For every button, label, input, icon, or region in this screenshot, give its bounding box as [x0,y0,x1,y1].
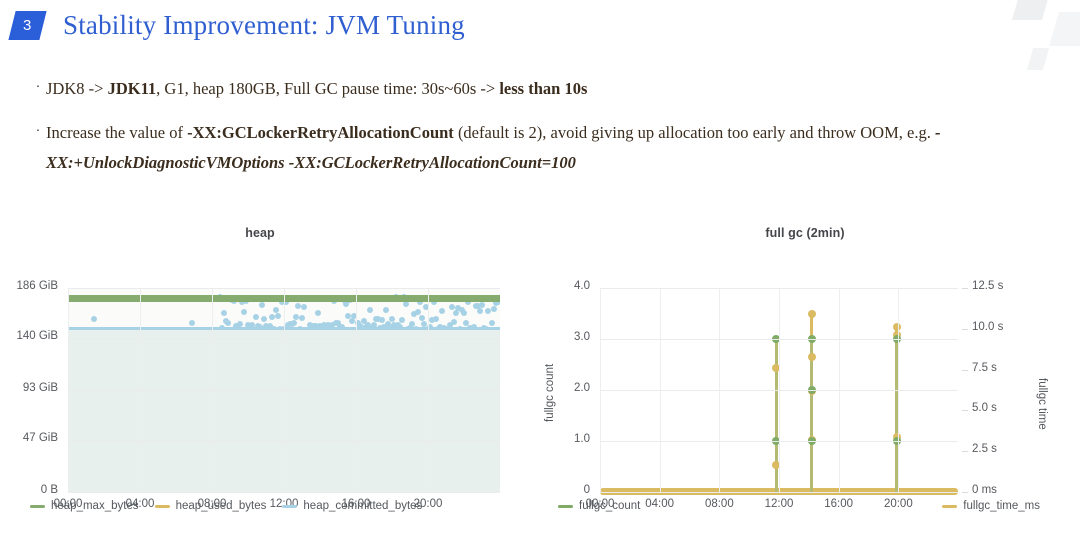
text-segment: Increase the value of [46,123,187,142]
slide-number-badge: 3 [8,11,46,40]
heap-committed-point [291,320,297,326]
fullgc-ytick-left-label: 4.0 [530,280,590,292]
bullet-dot-icon: · [30,118,46,140]
heap-ytick-label: 93 GiB [0,382,58,394]
heap-committed-point [261,316,267,322]
bullet-text: Increase the value of -XX:GCLockerRetryA… [46,118,1030,178]
heap-committed-point [367,307,373,313]
heap-committed-point [241,309,247,315]
bullet-list: ·JDK8 -> JDK11, G1, heap 180GB, Full GC … [30,74,1030,192]
heap-committed-point [419,315,425,321]
fullgc-right-axis-title: fullgc time [1036,364,1048,444]
gridline [68,492,500,493]
vgridline [779,288,780,492]
fullgc-ytick-left-label: 1.0 [530,433,590,445]
heap-committed-point [299,315,305,321]
heap-committed-point [491,306,497,312]
tickmark [962,451,968,452]
text-segment: (default is 2), avoid giving up allocati… [454,123,935,142]
heap-committed-point [91,316,97,322]
legend-label: fullgc_time_ms [963,500,1040,512]
heap-committed-point [471,324,477,330]
fullgc-ytick-right-label: 5.0 s [972,402,1028,414]
heap-committed-point [489,320,495,326]
fullgc-xtick-label: 16:00 [809,498,869,510]
heap-legend: heap_max_bytesheap_used_bytesheap_commit… [30,500,422,512]
heap-committed-point [403,301,409,307]
heap-committed-point [399,317,405,323]
fullgc-ytick-right-label: 12.5 s [972,280,1028,292]
legend-label: heap_used_bytes [176,500,267,512]
heap-committed-point [389,316,395,322]
heap-committed-point [221,310,227,316]
heap-committed-point [477,308,483,314]
heap-committed-point [259,302,265,308]
fullgc-ytick-left-label: 0 [530,484,590,496]
heap-committed-point [439,308,445,314]
legend-item[interactable]: heap_committed_bytes [282,500,422,512]
fullgc-count-stem [810,339,813,492]
legend-item[interactable]: fullgc_count [558,500,640,512]
list-item: ·JDK8 -> JDK11, G1, heap 180GB, Full GC … [30,74,1030,104]
vgridline [660,288,661,492]
heap-ytick-label: 0 B [0,484,58,496]
heap-committed-point [461,310,467,316]
fullgc-ytick-right-label: 2.5 s [972,443,1028,455]
bullet-text: JDK8 -> JDK11, G1, heap 180GB, Full GC p… [46,74,587,104]
text-segment: -XX:GCLockerRetryAllocationCount [187,123,454,142]
heap-committed-point [433,316,439,322]
bullet-dot-icon: · [30,74,46,96]
legend-label: heap_max_bytes [51,500,139,512]
legend-swatch [282,505,297,508]
heap-committed-point [479,302,485,308]
tickmark [962,492,968,493]
gridline [600,492,958,493]
heap-committed-point [301,304,307,310]
fullgc-ytick-right-label: 10.0 s [972,321,1028,333]
charts-row: heap 186 GiB140 GiB93 GiB47 GiB0 B00:000… [0,218,1080,538]
vgridline [719,288,720,492]
legend-item[interactable]: heap_used_bytes [155,500,267,512]
text-segment: JDK8 -> [46,79,108,98]
heap-ytick-label: 47 GiB [0,432,58,444]
legend-item[interactable]: heap_max_bytes [30,500,139,512]
text-segment: , G1, heap 180GB, Full GC pause time: 30… [156,79,499,98]
heap-chart-panel: heap 186 GiB140 GiB93 GiB47 GiB0 B00:000… [0,218,520,538]
fullgc-xtick-label: 20:00 [868,498,928,510]
heap-committed-point [225,320,231,326]
heap-committed-point [379,317,385,323]
heap-committed-point [451,319,457,325]
vgridline [140,288,141,492]
heap-committed-point [315,310,321,316]
legend-swatch [30,505,45,508]
vgridline [898,288,899,492]
vgridline [428,288,429,492]
heap-ytick-label: 140 GiB [0,330,58,342]
fullgc-ytick-right-label: 7.5 s [972,362,1028,374]
deco-shape-b [1049,12,1080,46]
list-item: ·Increase the value of -XX:GCLockerRetry… [30,118,1030,178]
heap-committed-point [237,321,243,327]
fullgc-xtick-label: 12:00 [749,498,809,510]
deco-shape-a [1012,0,1050,20]
legend-item[interactable]: fullgc_time_ms [942,500,1040,512]
tickmark [962,370,968,371]
heap-committed-point [415,309,421,315]
tickmark [962,329,968,330]
heap-ytick-label: 186 GiB [0,280,58,292]
legend-swatch [155,505,170,508]
vgridline [68,288,69,492]
vgridline [212,288,213,492]
fullgc-time-point [808,310,816,318]
legend-label: heap_committed_bytes [303,500,422,512]
slide-number-text: 3 [23,17,31,34]
tickmark [962,288,968,289]
heap-committed-point [383,307,389,313]
heap-committed-point [189,320,195,326]
heap-committed-point [275,313,281,319]
tickmark [962,410,968,411]
vgridline [600,288,601,492]
legend-swatch [942,505,957,508]
legend-label: fullgc_count [579,500,640,512]
fullgc-chart-panel: full gc (2min) 4.03.02.01.0012.5 s10.0 s… [530,218,1080,538]
corner-decoration [988,0,1080,82]
heap-chart-title: heap [0,218,520,244]
fullgc-time-point [808,353,816,361]
vgridline [839,288,840,492]
text-segment: JDK11 [108,79,157,98]
fullgc-xtick-label: 08:00 [689,498,749,510]
fullgc-left-axis-title: fullgc count [544,348,556,438]
slide-header: 3 Stability Improvement: JVM Tuning [0,5,465,45]
fullgc-count-stem [775,339,778,492]
fullgc-ytick-left-label: 2.0 [530,382,590,394]
fullgc-chart-title: full gc (2min) [530,218,1080,244]
fullgc-ytick-left-label: 3.0 [530,331,590,343]
heap-committed-point [253,314,259,320]
deco-shape-c [1027,48,1049,70]
fullgc-time-point [893,323,901,331]
vgridline [356,288,357,492]
legend-swatch [558,505,573,508]
page-title: Stability Improvement: JVM Tuning [63,10,465,41]
text-segment: less than 10s [499,79,587,98]
vgridline [284,288,285,492]
fullgc-ytick-right-label: 0 ms [972,484,1028,496]
